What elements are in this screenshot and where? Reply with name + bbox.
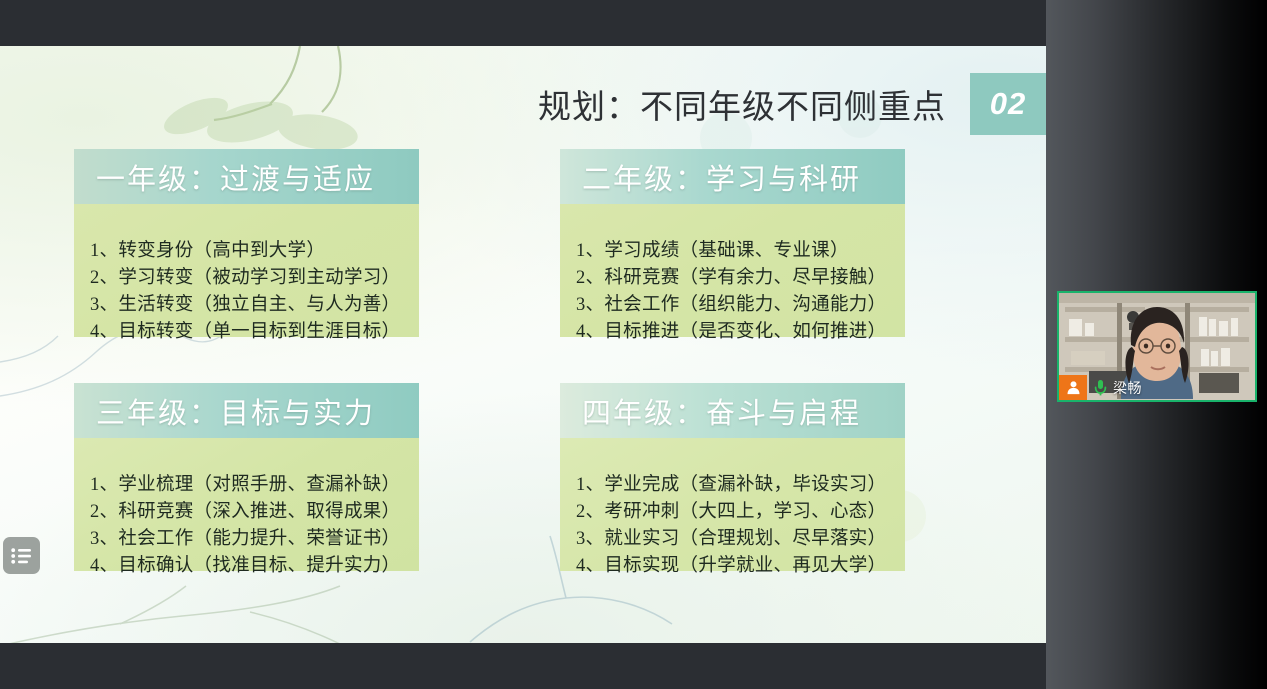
- card-line: 2、考研冲刺（大四上，学习、心态）: [576, 499, 905, 526]
- card-line: 4、目标实现（升学就业、再见大学）: [576, 553, 905, 580]
- participant-name: 梁畅: [1113, 378, 1148, 398]
- card-header: 二年级：学习与科研: [560, 149, 905, 204]
- card-line: 1、学业完成（查漏补缺，毕设实习）: [576, 472, 905, 499]
- page-title: 规划：不同年级不同侧重点: [538, 80, 946, 128]
- card-body: 1、学业完成（查漏补缺，毕设实习） 2、考研冲刺（大四上，学习、心态） 3、就业…: [560, 438, 905, 571]
- card-line: 3、社会工作（组织能力、沟通能力）: [576, 292, 905, 319]
- card-body: 1、转变身份（高中到大学） 2、学习转变（被动学习到主动学习） 3、生活转变（独…: [74, 204, 419, 337]
- grade-card-year-3: 三年级：目标与实力 1、学业梳理（对照手册、查漏补缺） 2、科研竞赛（深入推进、…: [74, 383, 419, 571]
- card-header: 一年级：过渡与适应: [74, 149, 419, 204]
- card-line: 4、目标转变（单一目标到生涯目标）: [90, 319, 419, 346]
- participant-avatar: [1059, 375, 1087, 400]
- grade-card-year-1: 一年级：过渡与适应 1、转变身份（高中到大学） 2、学习转变（被动学习到主动学习…: [74, 149, 419, 337]
- card-line: 4、目标确认（找准目标、提升实力）: [90, 553, 419, 580]
- person-icon: [1066, 380, 1081, 395]
- card-line: 3、就业实习（合理规划、尽早落实）: [576, 526, 905, 553]
- bullet-list-icon: [11, 548, 32, 564]
- stage-bottom-bar: [0, 643, 1046, 689]
- card-header: 四年级：奋斗与启程: [560, 383, 905, 438]
- card-header: 三年级：目标与实力: [74, 383, 419, 438]
- participant-video-tile[interactable]: 梁畅: [1057, 291, 1257, 402]
- grade-card-grid: 一年级：过渡与适应 1、转变身份（高中到大学） 2、学习转变（被动学习到主动学习…: [74, 149, 906, 571]
- microphone-icon: [1094, 379, 1107, 396]
- video-tile-footer: 梁畅: [1059, 375, 1148, 400]
- section-number-badge: 02: [970, 73, 1046, 135]
- card-line: 3、生活转变（独立自主、与人为善）: [90, 292, 419, 319]
- mic-status[interactable]: [1087, 379, 1113, 396]
- stage-top-bar: [0, 0, 1046, 46]
- slide-outline-toggle-button[interactable]: [3, 537, 40, 574]
- card-line: 2、科研竞赛（学有余力、尽早接触）: [576, 265, 905, 292]
- card-body: 1、学业梳理（对照手册、查漏补缺） 2、科研竞赛（深入推进、取得成果） 3、社会…: [74, 438, 419, 571]
- card-line: 2、科研竞赛（深入推进、取得成果）: [90, 499, 419, 526]
- card-line: 1、转变身份（高中到大学）: [90, 238, 419, 265]
- card-line: 1、学习成绩（基础课、专业课）: [576, 238, 905, 265]
- card-line: 2、学习转变（被动学习到主动学习）: [90, 265, 419, 292]
- card-line: 1、学业梳理（对照手册、查漏补缺）: [90, 472, 419, 499]
- card-body: 1、学习成绩（基础课、专业课） 2、科研竞赛（学有余力、尽早接触） 3、社会工作…: [560, 204, 905, 337]
- meeting-screen: 规划：不同年级不同侧重点 02 一年级：过渡与适应 1、转变身份（高中到大学） …: [0, 0, 1267, 689]
- card-line: 4、目标推进（是否变化、如何推进）: [576, 319, 905, 346]
- grade-card-year-4: 四年级：奋斗与启程 1、学业完成（查漏补缺，毕设实习） 2、考研冲刺（大四上，学…: [560, 383, 905, 571]
- grade-card-year-2: 二年级：学习与科研 1、学习成绩（基础课、专业课） 2、科研竞赛（学有余力、尽早…: [560, 149, 905, 337]
- card-line: 3、社会工作（能力提升、荣誉证书）: [90, 526, 419, 553]
- shared-slide: 规划：不同年级不同侧重点 02 一年级：过渡与适应 1、转变身份（高中到大学） …: [0, 46, 1046, 643]
- slide-header: 规划：不同年级不同侧重点 02: [0, 73, 1046, 135]
